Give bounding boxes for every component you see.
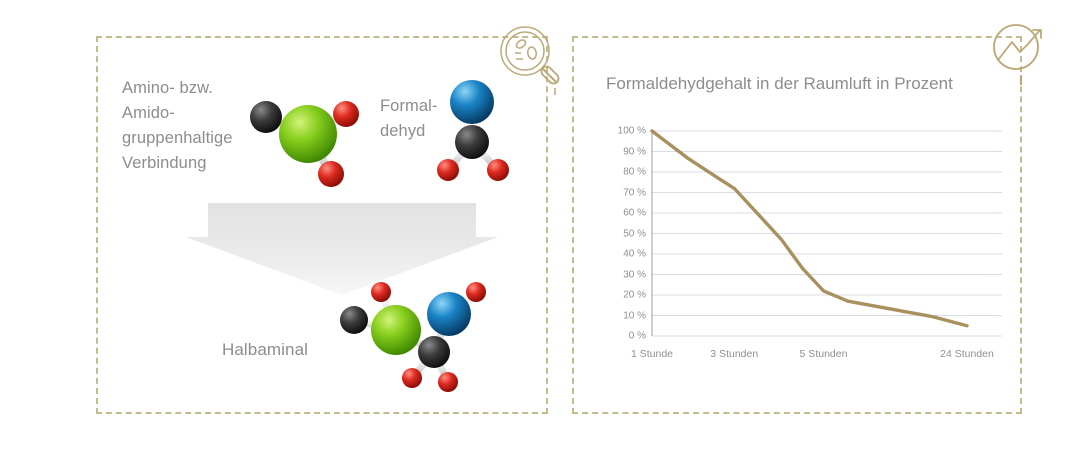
x-axis-tick-label: 5 Stunden [800, 348, 848, 360]
halbaminal-molecule [324, 272, 514, 402]
infographic-stage: Amino- bzw. Amido- gruppenhaltige Verbin… [0, 0, 1080, 462]
x-axis-tick-label: 1 Stunde [631, 348, 673, 360]
x-axis-tick-label: 3 Stunden [710, 348, 758, 360]
x-axis-ticks: 1 Stunde3 Stunden5 Stunden24 Stunden [600, 118, 1012, 380]
chart-title: Formaldehydgehalt in der Raumluft in Pro… [606, 74, 1006, 94]
amino-compound-molecule [236, 82, 376, 194]
formaldehyde-molecule [432, 70, 536, 190]
x-axis-tick-label: 24 Stunden [940, 348, 994, 360]
line-chart: 100 %90 %80 %70 %60 %50 %40 %30 %20 %10 … [600, 118, 1012, 380]
